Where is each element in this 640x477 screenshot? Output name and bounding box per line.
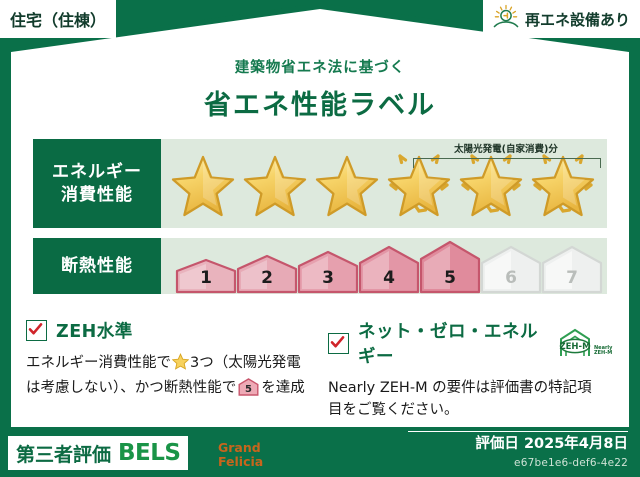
net-zero-desc-line2: 目をご覧ください。 bbox=[328, 402, 459, 418]
building-type-badge: 住宅（住棟） bbox=[0, 0, 116, 38]
sun-renewable-icon bbox=[491, 4, 521, 34]
label-subtitle: 建築物省エネ法に基づく bbox=[0, 56, 640, 77]
net-zero-description: Nearly ZEH-M の要件は評価書の特記項 目をご覧ください。 bbox=[328, 377, 616, 422]
insulation-label-text: 断熱性能 bbox=[61, 255, 133, 277]
insulation-performance-body: 1 2 3 4 5 6 7 bbox=[161, 238, 607, 294]
bels-jp-label: 第三者評価 bbox=[16, 440, 111, 467]
solar-note-label: 太陽光発電(自家消費)分 bbox=[413, 141, 599, 155]
insulation-level-4: 4 bbox=[358, 238, 420, 294]
svg-text:5: 5 bbox=[245, 384, 252, 395]
evaluation-date-label: 評価日 bbox=[475, 436, 519, 452]
solar-bracket bbox=[413, 158, 601, 168]
insulation-performance-label: 断熱性能 bbox=[33, 238, 161, 294]
insulation-performance-row: 断熱性能 1 2 3 4 5 6 7 bbox=[33, 238, 607, 294]
property-brand-name: Grand Felicia bbox=[218, 441, 263, 469]
house-badge-icon: 5 bbox=[238, 378, 259, 403]
energy-performance-row: エネルギー 消費性能 太陽光発電(自家消費)分 bbox=[33, 139, 607, 228]
net-zero-energy-block: ネット・ゼロ・エネルギー ZEH-M Nearly ZEH-M Nearly Z… bbox=[328, 318, 616, 422]
renewable-equipment-badge: 再エネ設備あり bbox=[483, 0, 640, 38]
net-zero-title: ネット・ゼロ・エネルギー bbox=[358, 318, 545, 368]
criteria-columns: ZEH水準 エネルギー消費性能で 3つ（太陽光発電 は考慮しない）、かつ断熱性能… bbox=[26, 318, 616, 422]
zeh-desc-part2: 3つ（太陽光発電 bbox=[190, 355, 301, 371]
energy-performance-body: 太陽光発電(自家消費)分 bbox=[161, 139, 607, 228]
insulation-level-5: 5 bbox=[419, 238, 481, 294]
energy-star-3 bbox=[311, 139, 383, 228]
insulation-level-number: 2 bbox=[236, 268, 298, 288]
net-zero-heading: ネット・ゼロ・エネルギー ZEH-M Nearly ZEH-M bbox=[328, 318, 616, 368]
energy-star-1 bbox=[167, 139, 239, 228]
page-title: 省エネ性能ラベル bbox=[0, 83, 640, 122]
bels-certification-badge: 第三者評価 BELS bbox=[8, 436, 188, 470]
net-zero-desc-line1: Nearly ZEH-M の要件は評価書の特記項 bbox=[328, 380, 592, 396]
zeh-desc-part3: は考慮しない）、かつ断熱性能で bbox=[26, 380, 236, 396]
checkbox-checked-icon bbox=[328, 333, 349, 354]
insulation-level-3: 3 bbox=[297, 238, 359, 294]
brand-line1: Grand bbox=[218, 441, 263, 455]
insulation-level-6: 6 bbox=[480, 238, 542, 294]
insulation-level-scale: 1 2 3 4 5 6 7 bbox=[161, 238, 621, 294]
zeh-standard-title: ZEH水準 bbox=[56, 318, 133, 343]
evaluation-date-value: 2025年4月8日 bbox=[524, 436, 628, 452]
zeh-standard-block: ZEH水準 エネルギー消費性能で 3つ（太陽光発電 は考慮しない）、かつ断熱性能… bbox=[26, 318, 314, 422]
brand-line2: Felicia bbox=[218, 455, 263, 469]
star-icon bbox=[172, 353, 189, 377]
zeh-m-logo-icon: ZEH-M Nearly ZEH-M bbox=[558, 328, 616, 358]
energy-star-2 bbox=[239, 139, 311, 228]
zeh-desc-part4: を達成 bbox=[261, 380, 305, 396]
energy-performance-label: エネルギー 消費性能 bbox=[33, 139, 161, 228]
insulation-level-2: 2 bbox=[236, 238, 298, 294]
zeh-standard-description: エネルギー消費性能で 3つ（太陽光発電 は考慮しない）、かつ断熱性能で 5 を達… bbox=[26, 352, 314, 404]
insulation-level-7: 7 bbox=[541, 238, 603, 294]
renewable-equipment-label: 再エネ設備あり bbox=[525, 9, 630, 30]
bels-logo-text: BELS bbox=[118, 440, 180, 466]
checkbox-checked-icon bbox=[26, 320, 47, 341]
energy-label-line1: エネルギー bbox=[52, 161, 142, 183]
evaluation-id: e67be1e6-def6-4e22 bbox=[514, 457, 628, 469]
insulation-level-number: 7 bbox=[541, 268, 603, 288]
zeh-desc-part1: エネルギー消費性能で bbox=[26, 355, 171, 371]
energy-label-line2: 消費性能 bbox=[61, 184, 133, 206]
insulation-level-number: 1 bbox=[175, 268, 237, 288]
insulation-level-number: 5 bbox=[419, 268, 481, 288]
insulation-level-1: 1 bbox=[175, 238, 237, 294]
label-title-block: 建築物省エネ法に基づく 省エネ性能ラベル bbox=[0, 56, 640, 122]
svg-text:ZEH-M: ZEH-M bbox=[559, 342, 590, 352]
insulation-level-number: 3 bbox=[297, 268, 359, 288]
svg-text:ZEH-M: ZEH-M bbox=[594, 350, 612, 356]
evaluation-date: 評価日 2025年4月8日 bbox=[475, 432, 628, 453]
insulation-level-number: 6 bbox=[480, 268, 542, 288]
zeh-standard-heading: ZEH水準 bbox=[26, 318, 314, 343]
insulation-level-number: 4 bbox=[358, 268, 420, 288]
building-type-label: 住宅（住棟） bbox=[10, 7, 106, 31]
